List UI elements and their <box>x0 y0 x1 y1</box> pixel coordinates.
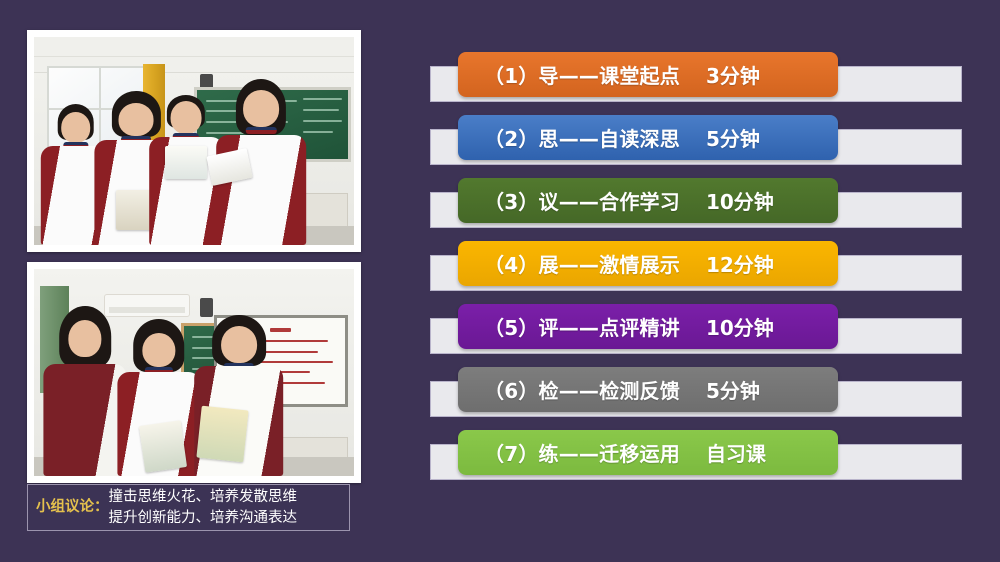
step-label-group: （7）练——迁移运用 <box>484 438 680 467</box>
step-duration: 3分钟 <box>706 60 760 89</box>
step-title: 检——检测反馈 <box>539 379 680 403</box>
step-duration: 10分钟 <box>706 186 774 215</box>
step-chip[interactable]: （5）评——点评精讲10分钟 <box>458 304 838 349</box>
step-chip[interactable]: （3）议——合作学习10分钟 <box>458 178 838 223</box>
step-chip[interactable]: （6）检——检测反馈5分钟 <box>458 367 838 412</box>
step-title: 思——自读深思 <box>539 127 680 151</box>
step-index: （6） <box>484 379 539 403</box>
step-index: （4） <box>484 253 539 277</box>
step-chip[interactable]: （1）导——课堂起点3分钟 <box>458 52 838 97</box>
step-title: 导——课堂起点 <box>539 64 680 88</box>
step-label-group: （3）议——合作学习 <box>484 186 680 215</box>
step-index: （3） <box>484 190 539 214</box>
step-duration: 自习课 <box>706 438 766 467</box>
step-chip[interactable]: （4）展——激情展示12分钟 <box>458 241 838 286</box>
step-title: 评——点评精讲 <box>539 316 680 340</box>
step-title: 展——激情展示 <box>539 253 680 277</box>
slide-canvas: 小组议论： 撞击思维火花、培养发散思维 提升创新能力、培养沟通表达 （1）导——… <box>0 0 1000 562</box>
step-index: （2） <box>484 127 539 151</box>
step-label-group: （2）思——自读深思 <box>484 123 680 152</box>
step-title: 议——合作学习 <box>539 190 680 214</box>
lesson-steps-list: （1）导——课堂起点3分钟（2）思——自读深思5分钟（3）议——合作学习10分钟… <box>0 0 1000 562</box>
step-label-group: （6）检——检测反馈 <box>484 375 680 404</box>
step-duration: 10分钟 <box>706 312 774 341</box>
step-label-group: （4）展——激情展示 <box>484 249 680 278</box>
step-label-group: （1）导——课堂起点 <box>484 60 680 89</box>
step-index: （7） <box>484 442 539 466</box>
step-chip[interactable]: （7）练——迁移运用自习课 <box>458 430 838 475</box>
step-chip[interactable]: （2）思——自读深思5分钟 <box>458 115 838 160</box>
step-title: 练——迁移运用 <box>539 442 680 466</box>
step-duration: 5分钟 <box>706 375 760 404</box>
step-duration: 12分钟 <box>706 249 774 278</box>
step-index: （1） <box>484 64 539 88</box>
step-label-group: （5）评——点评精讲 <box>484 312 680 341</box>
step-index: （5） <box>484 316 539 340</box>
step-duration: 5分钟 <box>706 123 760 152</box>
